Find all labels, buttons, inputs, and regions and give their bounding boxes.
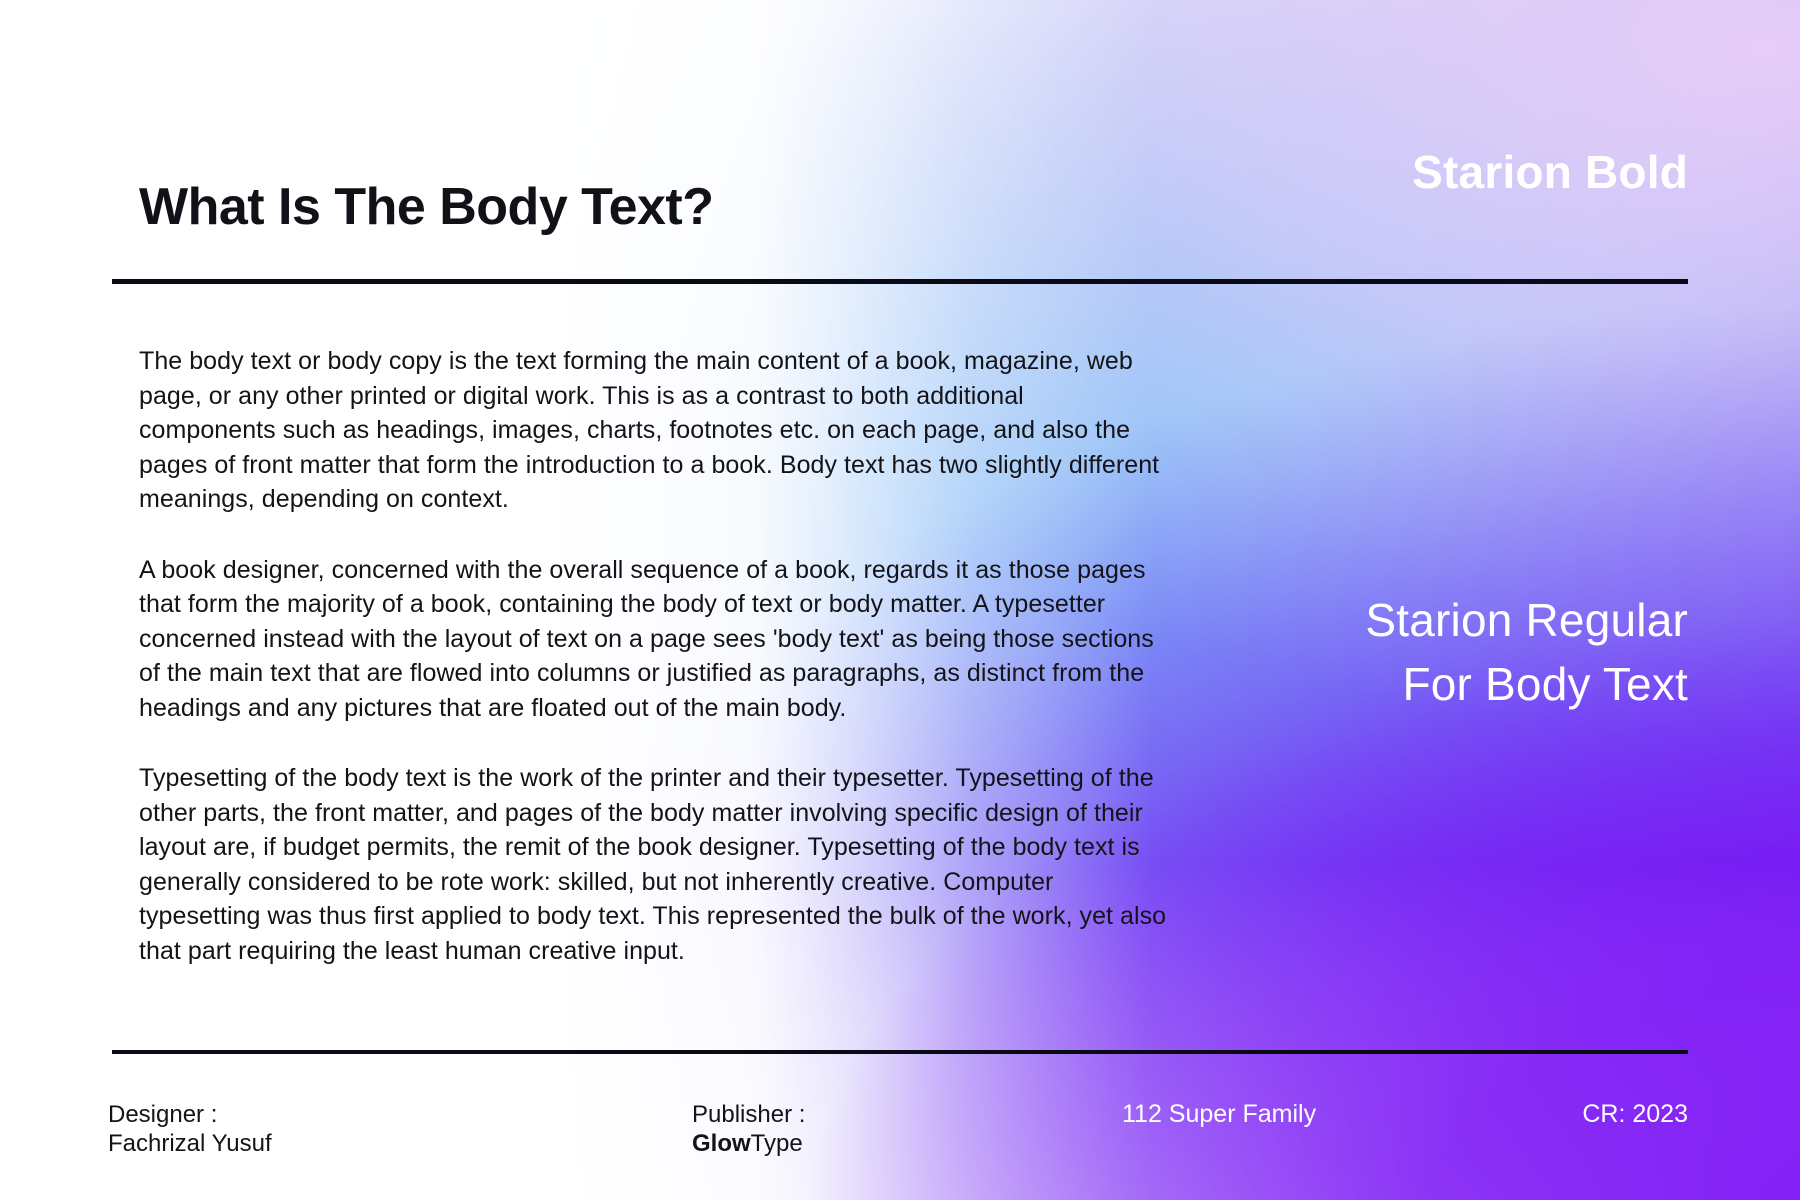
font-style-label-bold: Starion Bold <box>1412 145 1688 199</box>
font-style-label-regular: Starion Regular For Body Text <box>1028 588 1688 716</box>
body-copy-column: The body text or body copy is the text f… <box>139 344 1167 968</box>
publisher-name: GlowType <box>692 1129 805 1158</box>
body-paragraph: Typesetting of the body text is the work… <box>139 761 1167 968</box>
page-title: What Is The Body Text? <box>139 177 714 237</box>
page-content: What Is The Body Text? Starion Bold The … <box>0 0 1800 1200</box>
font-style-label-regular-line1: Starion Regular <box>1028 588 1688 652</box>
publisher-label: Publisher : <box>692 1100 805 1129</box>
header-divider-rule <box>112 279 1688 284</box>
footer-publisher-credit: Publisher : GlowType <box>692 1100 805 1158</box>
footer-designer-credit: Designer : Fachrizal Yusuf <box>108 1100 272 1158</box>
footer-divider-rule <box>112 1050 1688 1054</box>
body-paragraph: A book designer, concerned with the over… <box>139 553 1167 726</box>
type-specimen-page: What Is The Body Text? Starion Bold The … <box>0 0 1800 1200</box>
publisher-name-strong: Glow <box>692 1130 751 1157</box>
font-style-label-regular-line2: For Body Text <box>1028 652 1688 716</box>
publisher-name-rest: Type <box>751 1130 803 1157</box>
footer-copyright: CR: 2023 <box>1582 1100 1688 1129</box>
body-paragraph: The body text or body copy is the text f… <box>139 344 1167 517</box>
designer-label: Designer : <box>108 1100 272 1129</box>
footer-family-count: 112 Super Family <box>1122 1100 1316 1129</box>
designer-name: Fachrizal Yusuf <box>108 1129 272 1158</box>
